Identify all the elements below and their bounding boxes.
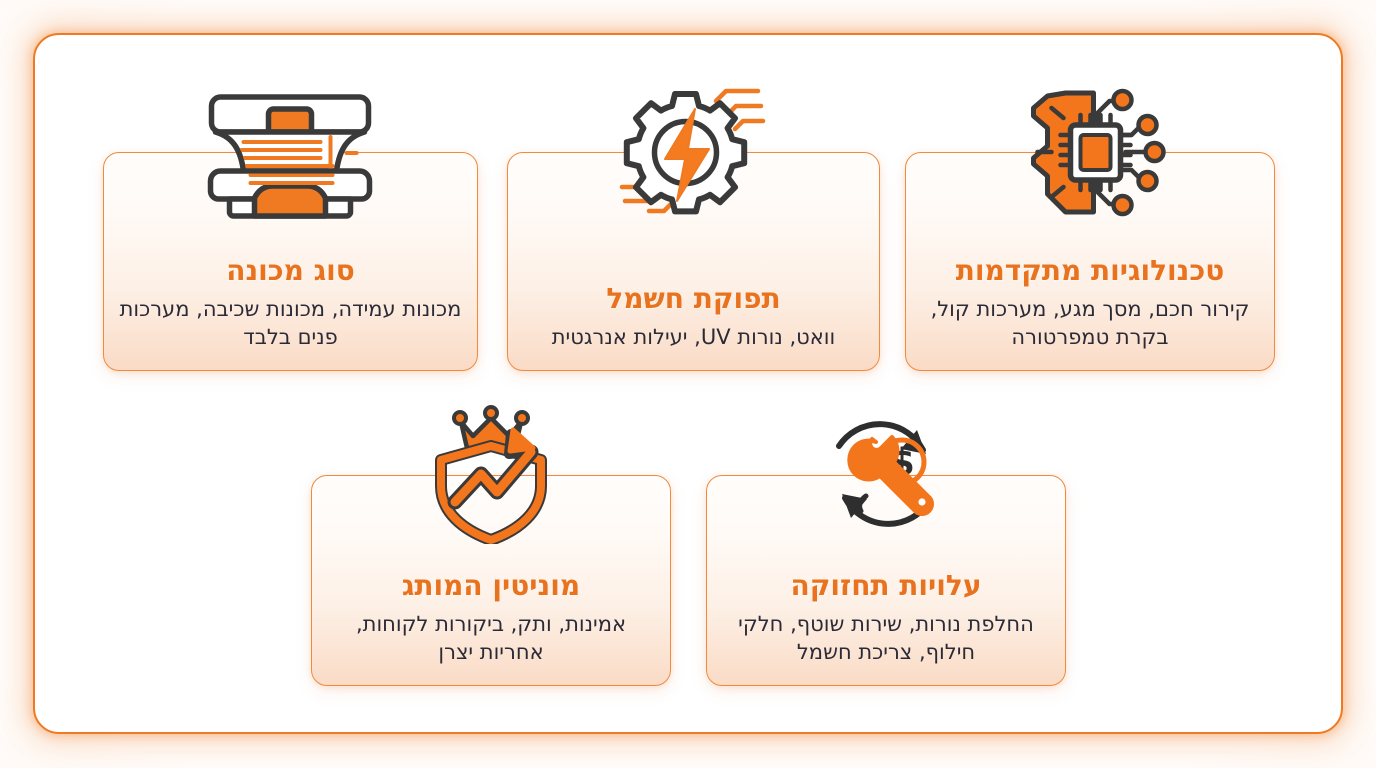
card-text-block: תפוקת חשמל וואט, נורות UV, יעילות אנרגטי… — [508, 282, 879, 352]
brain-chip-icon — [1008, 85, 1173, 220]
infographic-stage: סוג מכונה מכונות עמידה, מכונות שכיבה, מע… — [0, 0, 1376, 768]
card-text-block: סוג מכונה מכונות עמידה, מכונות שכיבה, מע… — [104, 254, 477, 352]
card-title: טכנולוגיות מתקדמות — [920, 254, 1260, 287]
gear-lightning-icon — [613, 85, 773, 220]
card-description: אמינות, ותק, ביקורות לקוחות, אחריות יצרן — [326, 611, 656, 667]
card-description: מכונות עמידה, מכונות שכיבה, מערכות פנים … — [118, 296, 463, 352]
card-grid: סוג מכונה מכונות עמידה, מכונות שכיבה, מע… — [0, 0, 1376, 768]
card-text-block: טכנולוגיות מתקדמות קירור חכם, מסך מגע, מ… — [906, 254, 1274, 352]
shield-crown-growth-icon — [421, 404, 561, 544]
card-title: עלויות תחזוקה — [721, 569, 1051, 602]
card-description: קירור חכם, מסך מגע, מערכות קול, בקרת טמפ… — [920, 296, 1260, 352]
card-text-block: עלויות תחזוקה החלפת נורות, שירות שוטף, ח… — [707, 569, 1065, 667]
card-description: וואט, נורות UV, יעילות אנרגטית — [522, 324, 865, 352]
card-text-block: מוניטין המותג אמינות, ותק, ביקורות לקוחו… — [312, 569, 670, 667]
wrench-dollar-cycle-icon: $ — [818, 408, 950, 540]
card-title: סוג מכונה — [118, 254, 463, 287]
tanning-bed-icon — [203, 85, 378, 220]
card-title: מוניטין המותג — [326, 569, 656, 602]
card-title: תפוקת חשמל — [522, 282, 865, 315]
card-description: החלפת נורות, שירות שוטף, חלקי חילוף, צרי… — [721, 611, 1051, 667]
